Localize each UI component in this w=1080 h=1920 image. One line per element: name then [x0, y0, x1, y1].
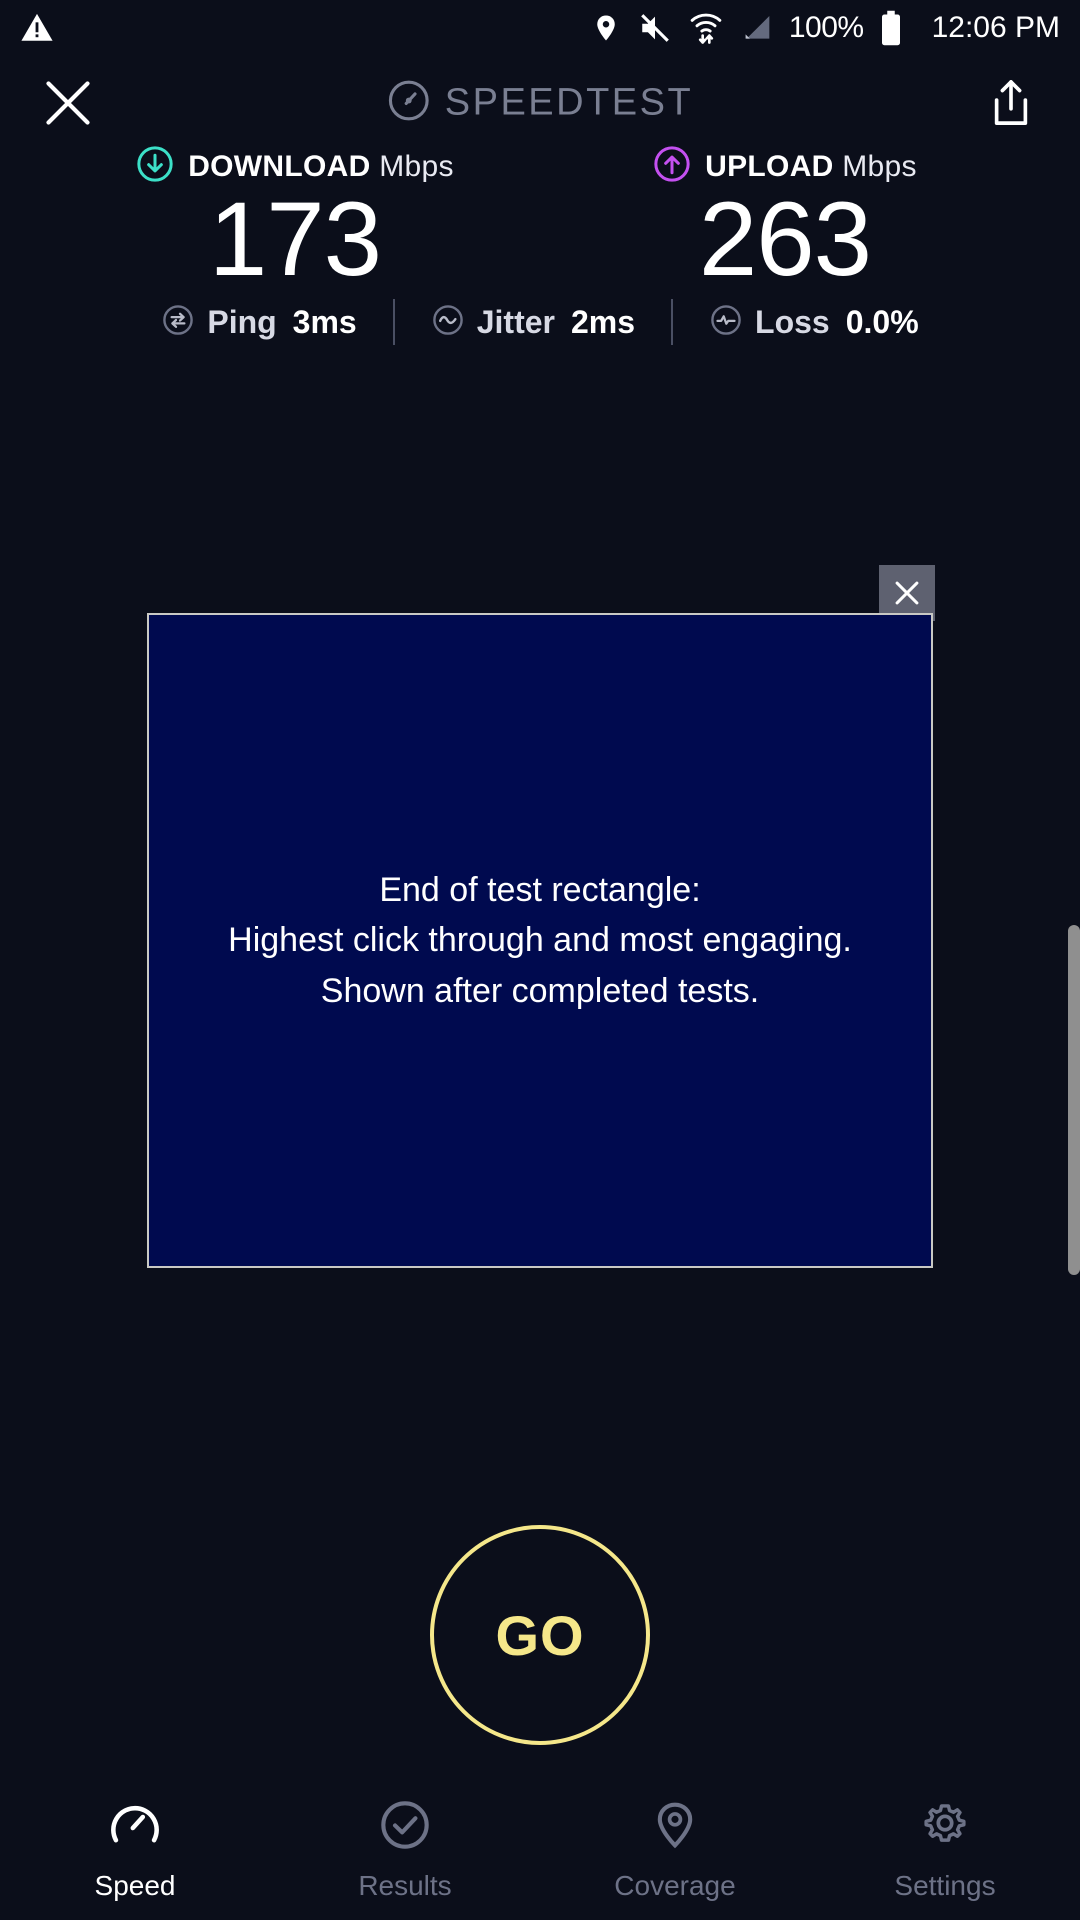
- location-pin-icon: [591, 11, 621, 45]
- download-arrow-icon: [136, 145, 174, 188]
- brand-title: SPEEDTEST: [445, 82, 693, 125]
- status-bar-clock: 12:06 PM: [932, 11, 1060, 45]
- ping-exchange-icon: [161, 303, 195, 342]
- upload-value: 263: [699, 186, 871, 293]
- nav-item-coverage[interactable]: Coverage: [540, 1799, 810, 1902]
- warning-triangle-icon: [20, 11, 54, 45]
- download-upload-row: DOWNLOAD Mbps 173 UPLOAD: [0, 145, 1080, 293]
- divider: [671, 299, 673, 345]
- go-button[interactable]: GO: [430, 1525, 650, 1745]
- share-button[interactable]: [984, 74, 1038, 132]
- go-button-label: GO: [495, 1603, 584, 1668]
- results-panel: DOWNLOAD Mbps 173 UPLOAD: [0, 145, 1080, 345]
- download-label: DOWNLOAD Mbps: [188, 150, 454, 184]
- jitter-label: Jitter: [477, 304, 555, 341]
- advertisement-rectangle[interactable]: End of test rectangle: Highest click thr…: [147, 613, 933, 1268]
- status-bar-right: 100% 12:06 PM: [591, 10, 1060, 46]
- bottom-navigation: Speed Results Coverage: [0, 1780, 1080, 1920]
- nav-label-coverage: Coverage: [614, 1870, 735, 1902]
- upload-arrow-icon: [653, 145, 691, 188]
- speedtest-app-screen: 100% 12:06 PM S: [0, 0, 1080, 1920]
- volume-muted-icon: [637, 11, 673, 45]
- divider: [393, 299, 395, 345]
- speedometer-icon: [387, 79, 431, 128]
- battery-full-icon: [880, 10, 902, 46]
- jitter-metric: Jitter 2ms: [431, 303, 635, 342]
- map-pin-icon: [649, 1799, 701, 1856]
- speedometer-icon: [109, 1799, 161, 1856]
- download-metric: DOWNLOAD Mbps 173: [95, 145, 495, 293]
- wifi-transfer-icon: [689, 10, 723, 46]
- loss-pulse-icon: [709, 303, 743, 342]
- status-bar-left: [20, 11, 54, 45]
- gear-icon: [919, 1799, 971, 1856]
- status-bar: 100% 12:06 PM: [0, 0, 1080, 56]
- nav-item-settings[interactable]: Settings: [810, 1799, 1080, 1902]
- loss-label: Loss: [755, 304, 830, 341]
- scrollbar-thumb[interactable]: [1068, 925, 1080, 1275]
- upload-label: UPLOAD Mbps: [705, 150, 917, 184]
- ping-value: 3ms: [293, 304, 357, 341]
- nav-label-results: Results: [358, 1870, 451, 1902]
- close-button[interactable]: [40, 75, 96, 131]
- jitter-value: 2ms: [571, 304, 635, 341]
- brand: SPEEDTEST: [387, 79, 693, 128]
- ad-text: End of test rectangle: Highest click thr…: [228, 865, 852, 1016]
- nav-label-settings: Settings: [894, 1870, 995, 1902]
- ad-line-3: Shown after completed tests.: [228, 966, 852, 1016]
- battery-percent: 100%: [789, 11, 864, 45]
- download-value: 173: [209, 186, 381, 293]
- cellular-signal-icon: [739, 12, 773, 44]
- ping-metric: Ping 3ms: [161, 303, 356, 342]
- upload-metric: UPLOAD Mbps 263: [585, 145, 985, 293]
- nav-label-speed: Speed: [95, 1870, 176, 1902]
- ad-line-2: Highest click through and most engaging.: [228, 915, 852, 965]
- nav-item-speed[interactable]: Speed: [0, 1799, 270, 1902]
- ping-jitter-loss-row: Ping 3ms Jitter 2ms: [0, 299, 1080, 345]
- nav-item-results[interactable]: Results: [270, 1799, 540, 1902]
- ad-line-1: End of test rectangle:: [228, 865, 852, 915]
- ping-label: Ping: [207, 304, 276, 341]
- jitter-wave-icon: [431, 303, 465, 342]
- loss-metric: Loss 0.0%: [709, 303, 919, 342]
- check-circle-icon: [379, 1799, 431, 1856]
- loss-value: 0.0%: [846, 304, 919, 341]
- app-header: SPEEDTEST: [0, 58, 1080, 148]
